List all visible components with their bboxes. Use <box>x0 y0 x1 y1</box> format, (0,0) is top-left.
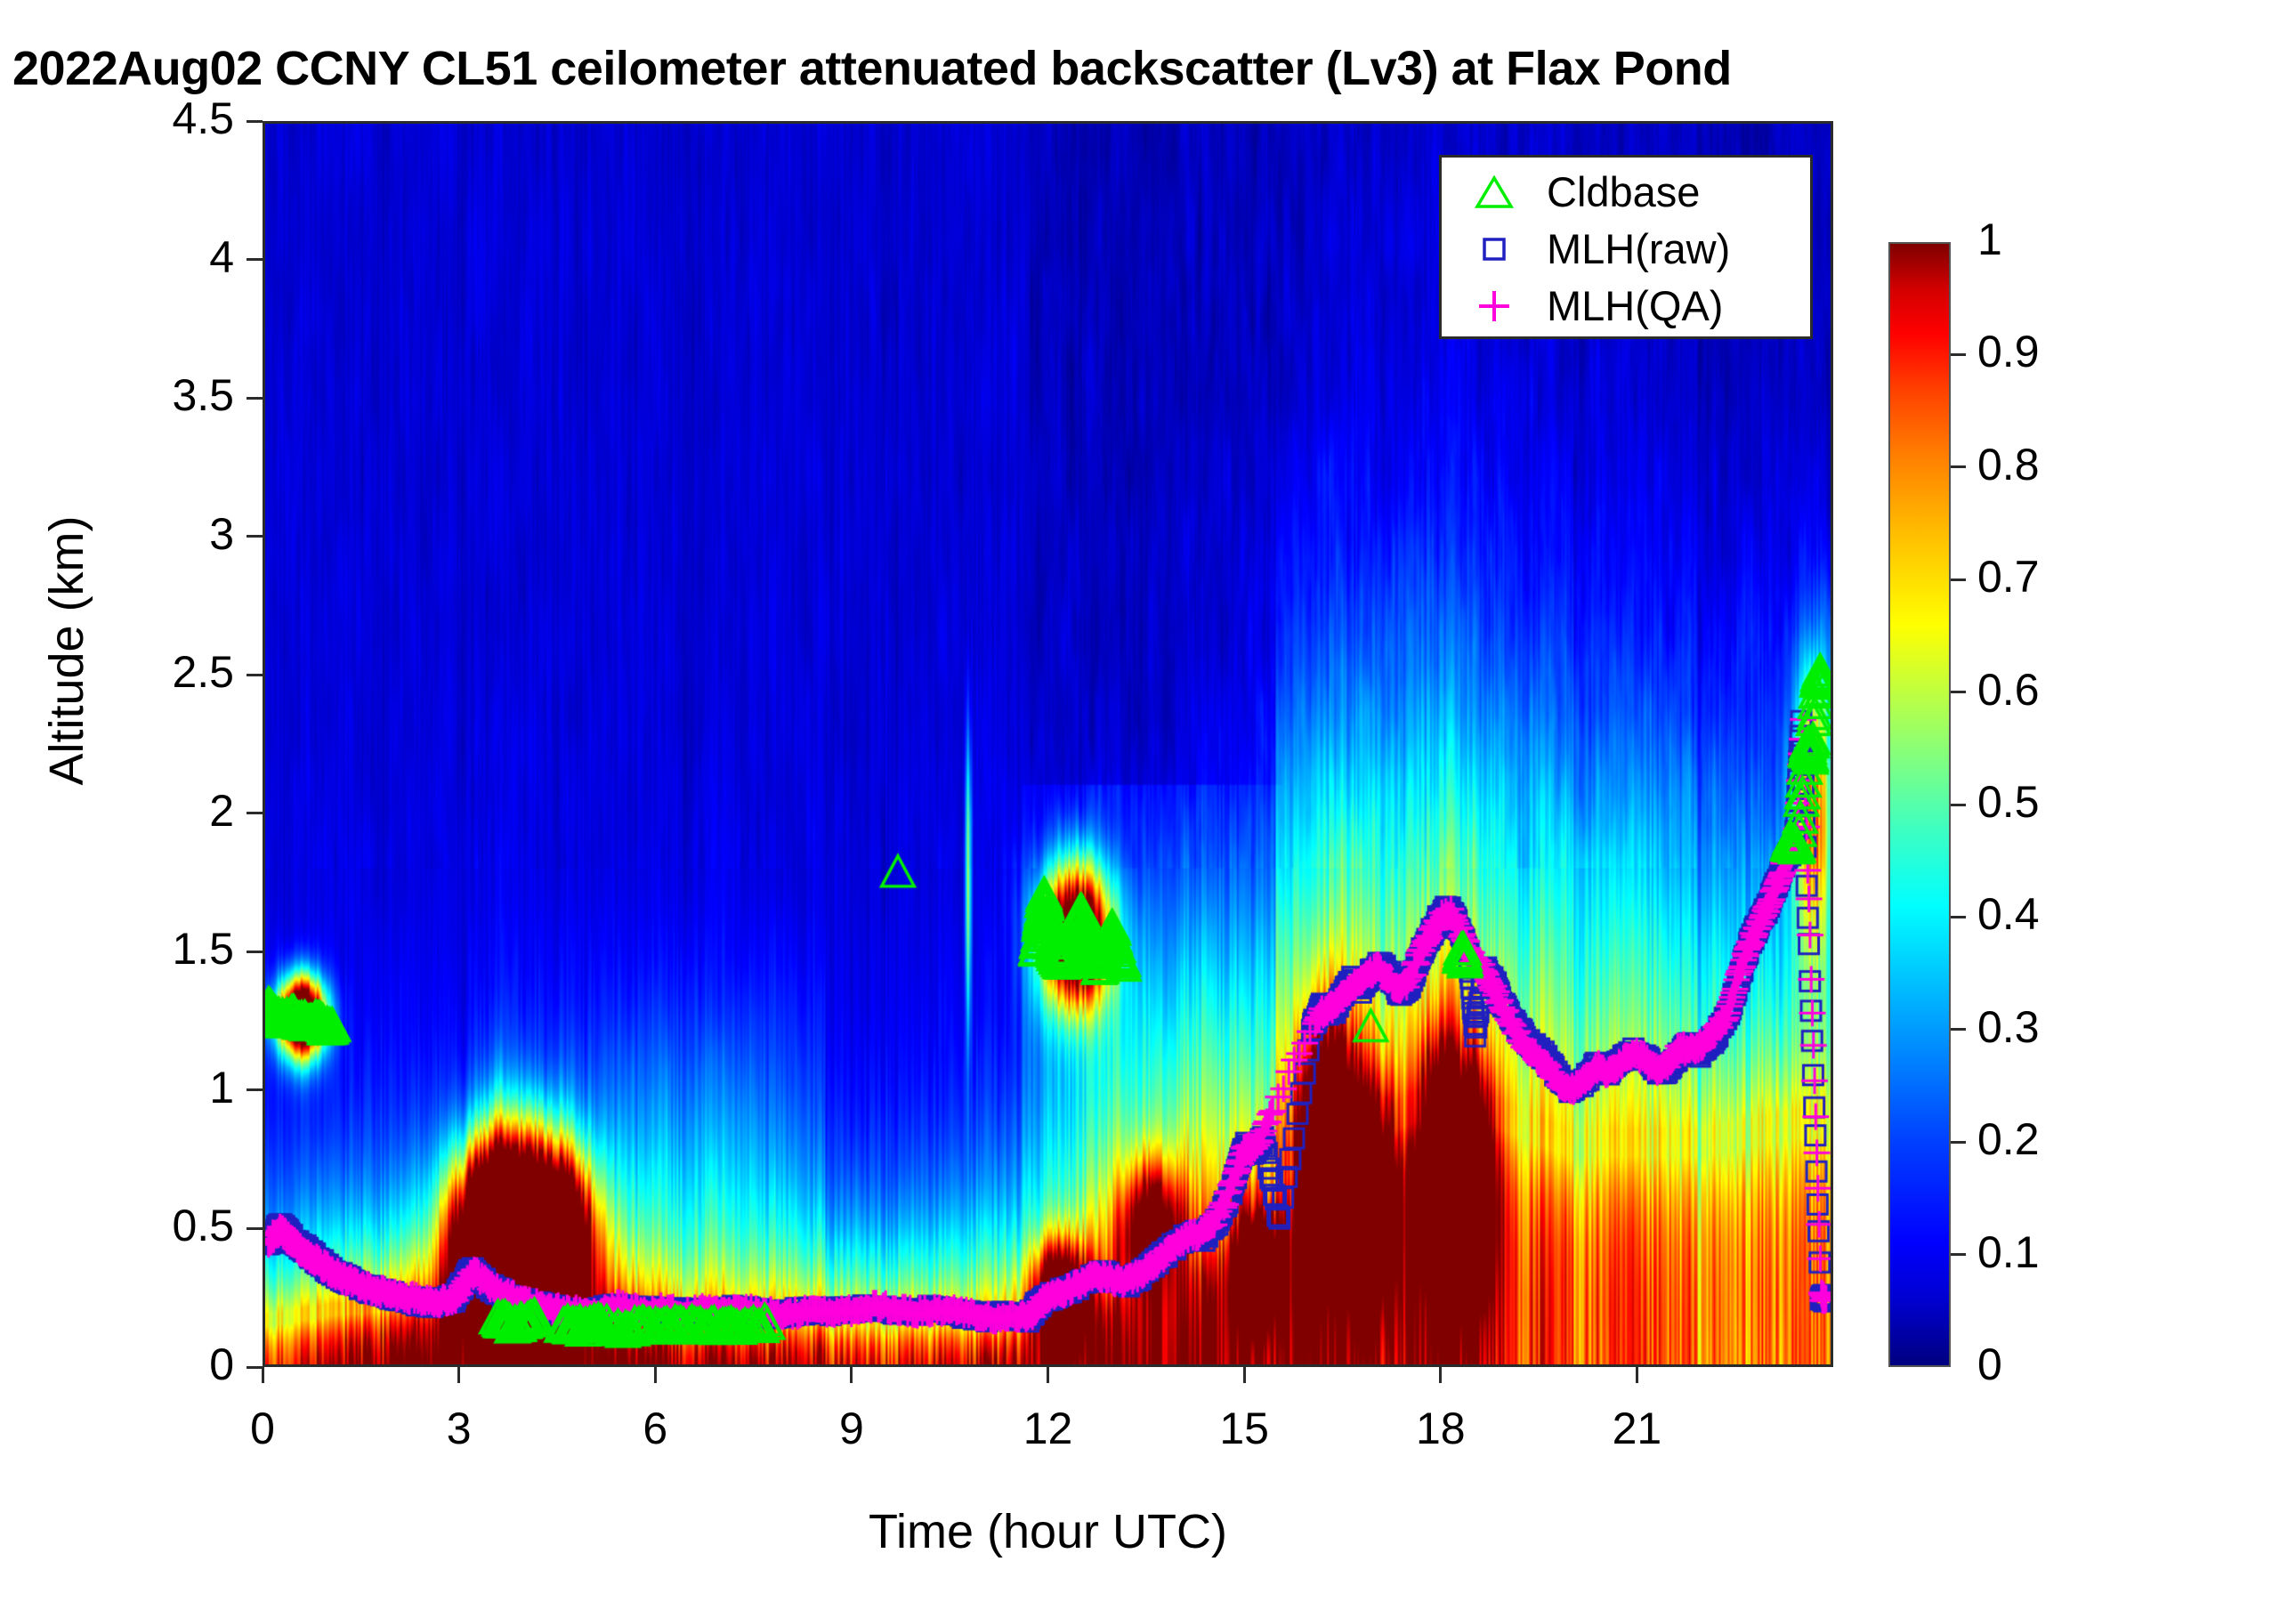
legend-label-cldbase: Cldbase <box>1547 171 1700 213</box>
legend-label-mlh-raw: MLH(raw) <box>1547 228 1730 270</box>
y-axis-tick-label: 1.5 <box>0 923 234 975</box>
plus-icon <box>1442 287 1547 325</box>
x-axis-tick <box>1636 1367 1638 1383</box>
y-axis-tick-label: 2.5 <box>0 646 234 698</box>
x-axis-tick <box>1243 1367 1246 1383</box>
legend-item-mlh-qa: MLH(QA) <box>1442 278 1810 335</box>
y-axis-tick <box>247 812 263 814</box>
colorbar-tick-label: 0.4 <box>1977 888 2040 940</box>
y-axis-tick-label: 1 <box>0 1062 234 1113</box>
colorbar-tick-label: 0.3 <box>1977 1001 2040 1053</box>
colorbar-tick <box>1951 353 1966 356</box>
y-axis-tick <box>247 1227 263 1230</box>
page-title: 2022Aug02 CCNY CL51 ceilometer attenuate… <box>12 41 2148 94</box>
x-axis-tick <box>1047 1367 1049 1383</box>
x-axis-tick-label: 18 <box>1361 1403 1521 1454</box>
y-axis-tick-label: 3.5 <box>0 369 234 421</box>
x-axis-tick-label: 12 <box>968 1403 1128 1454</box>
x-axis-tick <box>654 1367 657 1383</box>
colorbar-tick-label: 0 <box>1977 1339 2002 1390</box>
y-axis-tick <box>247 1088 263 1091</box>
y-axis-tick-label: 0 <box>0 1339 234 1390</box>
y-axis-tick <box>247 120 263 123</box>
legend: Cldbase MLH(raw) MLH(QA) <box>1439 155 1813 339</box>
y-axis-tick <box>247 397 263 400</box>
y-axis-tick <box>247 951 263 953</box>
y-axis-tick <box>247 1366 263 1369</box>
legend-item-cldbase: Cldbase <box>1442 164 1810 221</box>
colorbar-tick-label: 0.2 <box>1977 1113 2040 1165</box>
square-icon <box>1442 231 1547 267</box>
legend-item-mlh-raw: MLH(raw) <box>1442 221 1810 278</box>
legend-label-mlh-qa: MLH(QA) <box>1547 285 1723 327</box>
x-axis-tick-label: 15 <box>1164 1403 1324 1454</box>
y-axis-tick <box>247 535 263 538</box>
colorbar-tick <box>1951 804 1966 806</box>
colorbar-tick <box>1951 691 1966 693</box>
y-axis-tick-label: 4.5 <box>0 93 234 144</box>
x-axis-tick <box>1439 1367 1442 1383</box>
y-axis-tick-label: 3 <box>0 508 234 560</box>
y-axis-tick-label: 2 <box>0 785 234 837</box>
colorbar-tick-label: 0.1 <box>1977 1226 2040 1278</box>
x-axis-tick <box>850 1367 853 1383</box>
colorbar-tick <box>1951 1028 1966 1031</box>
colorbar-tick <box>1951 578 1966 581</box>
colorbar-tick <box>1951 1253 1966 1256</box>
y-axis-tick-label: 4 <box>0 231 234 283</box>
colorbar-tick <box>1951 916 1966 918</box>
x-axis-tick-label: 9 <box>772 1403 932 1454</box>
colorbar-tick <box>1951 1141 1966 1144</box>
colorbar-tick-label: 0.5 <box>1977 776 2040 828</box>
colorbar-tick-label: 1 <box>1977 214 2002 265</box>
y-axis-tick-label: 0.5 <box>0 1200 234 1251</box>
colorbar-tick-label: 0.9 <box>1977 326 2040 377</box>
triangle-icon <box>1442 174 1547 210</box>
colorbar <box>1888 242 1951 1367</box>
y-axis-tick <box>247 258 263 261</box>
x-axis-tick <box>457 1367 460 1383</box>
x-axis-tick <box>262 1367 264 1383</box>
x-axis-tick-label: 3 <box>379 1403 539 1454</box>
colorbar-tick-label: 0.8 <box>1977 439 2040 490</box>
y-axis-tick <box>247 674 263 676</box>
x-axis-label: Time (hour UTC) <box>263 1504 1833 1559</box>
figure-root: 2022Aug02 CCNY CL51 ceilometer attenuate… <box>0 0 2296 1602</box>
x-axis-tick-label: 0 <box>182 1403 343 1454</box>
x-axis-tick-label: 21 <box>1556 1403 1717 1454</box>
x-axis-tick-label: 6 <box>575 1403 735 1454</box>
y-axis-label: Altitude (km) <box>39 401 94 900</box>
colorbar-tick-label: 0.6 <box>1977 664 2040 716</box>
colorbar-tick-label: 0.7 <box>1977 551 2040 603</box>
colorbar-tick <box>1951 465 1966 468</box>
